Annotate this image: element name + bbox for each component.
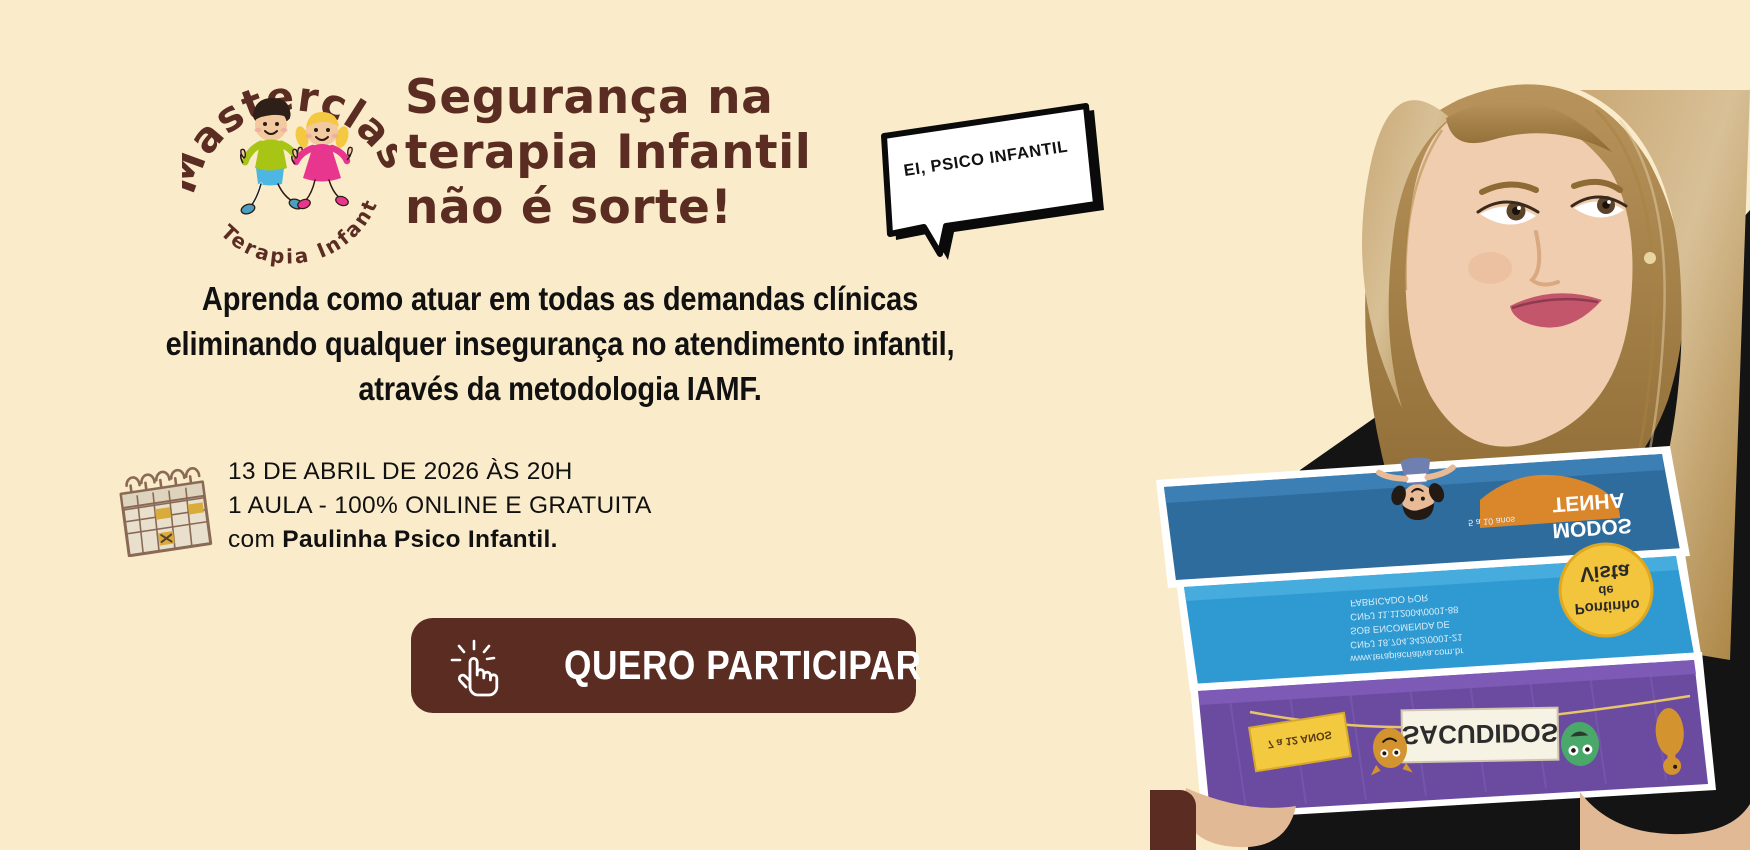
click-hand-icon xyxy=(444,635,506,697)
logo-girl-figure xyxy=(292,112,352,210)
subheadline-line-3: através da metodologia IAMF. xyxy=(120,366,1000,411)
svg-text:Vista: Vista xyxy=(1579,559,1631,585)
subheadline-line-2: eliminando qualquer insegurança no atend… xyxy=(120,321,1000,366)
event-date: 13 DE ABRIL DE 2026 ÀS 20H xyxy=(228,455,652,489)
logo-illustration: Masterclass Terapia Infantil xyxy=(182,52,397,272)
event-detail-lines: 13 DE ABRIL DE 2026 ÀS 20H 1 AULA - 100%… xyxy=(228,455,652,557)
svg-text:SACUDIDOS: SACUDIDOS xyxy=(1402,718,1559,751)
calendar-icon xyxy=(108,462,216,557)
headline-line-1: Segurança na xyxy=(405,70,805,125)
masterclass-logo: Masterclass Terapia Infantil xyxy=(182,52,397,272)
event-host-name: Paulinha Psico Infantil. xyxy=(282,526,557,553)
logo-arc-top-text: Masterclass xyxy=(182,52,397,199)
event-host: com Paulinha Psico Infantil. xyxy=(228,523,652,557)
headline: Segurança na terapia Infantil não é sort… xyxy=(405,70,805,235)
event-details: 13 DE ABRIL DE 2026 ÀS 20H 1 AULA - 100%… xyxy=(108,455,748,565)
speech-bubble-icon xyxy=(866,100,1116,260)
headline-line-3: não é sorte! xyxy=(405,180,805,235)
event-host-prefix: com xyxy=(228,526,282,553)
cta-label: QUERO PARTICIPAR xyxy=(564,642,922,689)
event-format: 1 AULA - 100% ONLINE E GRATUITA xyxy=(228,489,652,523)
subheadline: Aprenda como atuar em todas as demandas … xyxy=(120,276,1000,411)
speech-bubble: EI, PSICO INFANTIL xyxy=(866,100,1116,260)
woman-holding-game-boxes-photo: TENHA MODOS 5 a 10 anos xyxy=(1150,0,1750,850)
promo-banner: Masterclass Terapia Infantil xyxy=(0,0,1750,850)
svg-text:Masterclass: Masterclass xyxy=(182,52,397,199)
quero-participar-button[interactable]: QUERO PARTICIPAR xyxy=(411,618,916,713)
subheadline-line-1: Aprenda como atuar em todas as demandas … xyxy=(120,276,1000,321)
decorative-corner-blob xyxy=(1150,790,1196,850)
headline-line-2: terapia Infantil xyxy=(405,125,805,180)
